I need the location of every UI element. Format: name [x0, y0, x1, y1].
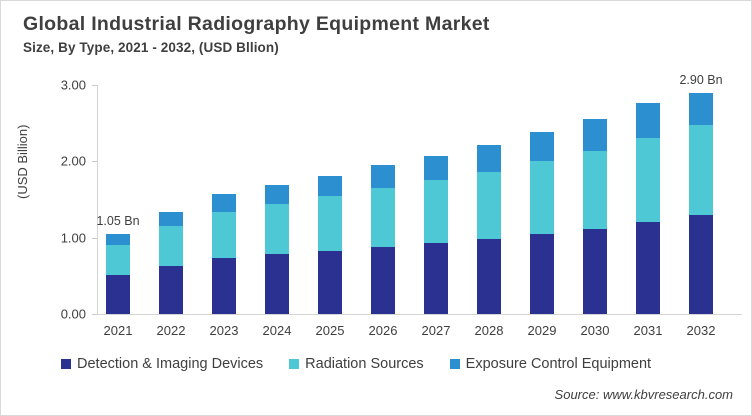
bar-group[interactable]: 2028	[477, 145, 501, 314]
bar-segment[interactable]	[583, 229, 607, 314]
legend-item-label: Radiation Sources	[305, 356, 424, 372]
x-axis-tick-label: 2028	[475, 323, 504, 338]
x-axis-tick-label: 2022	[157, 323, 186, 338]
bar-segment[interactable]	[371, 188, 395, 247]
bar-segment[interactable]	[636, 103, 660, 137]
chart-title: Global Industrial Radiography Equipment …	[23, 13, 490, 36]
bar-segment[interactable]	[477, 239, 501, 314]
chart-subtitle: Size, By Type, 2021 - 2032, (USD Bllion)	[23, 40, 279, 55]
bar-segment[interactable]	[424, 243, 448, 314]
bar-group[interactable]: 2.90 Bn2032	[689, 93, 713, 314]
bar-segment[interactable]	[689, 215, 713, 314]
y-axis-tick-label: 3.00	[61, 78, 86, 93]
bar-group[interactable]: 2029	[530, 132, 554, 314]
bar-segment[interactable]	[530, 234, 554, 314]
bar-segment[interactable]	[477, 172, 501, 239]
x-axis-tick-label: 2026	[369, 323, 398, 338]
bar-segment[interactable]	[106, 245, 130, 275]
bar-segment[interactable]	[530, 132, 554, 161]
x-axis-tick-label: 2032	[687, 323, 716, 338]
legend-item[interactable]: Detection & Imaging Devices	[61, 356, 263, 372]
bar-segment[interactable]	[212, 212, 236, 259]
x-axis-tick-label: 2031	[634, 323, 663, 338]
x-axis-tick-label: 2027	[422, 323, 451, 338]
bar-segment[interactable]	[318, 251, 342, 314]
bar-segment[interactable]	[689, 93, 713, 125]
bar-segment[interactable]	[689, 125, 713, 215]
legend-item[interactable]: Radiation Sources	[289, 356, 424, 372]
x-axis-tick-label: 2023	[210, 323, 239, 338]
bar-segment[interactable]	[265, 204, 289, 254]
bar-segment[interactable]	[636, 222, 660, 314]
bar-segment[interactable]	[371, 247, 395, 314]
bar-group[interactable]: 2027	[424, 156, 448, 314]
bar-segment[interactable]	[318, 196, 342, 250]
bar-segment[interactable]	[583, 119, 607, 150]
bar-group[interactable]: 2024	[265, 185, 289, 314]
bar-segment[interactable]	[371, 165, 395, 188]
bar-group[interactable]: 1.05 Bn2021	[106, 234, 130, 314]
x-axis-tick-label: 2030	[581, 323, 610, 338]
plot-area: 0.001.002.003.00 1.05 Bn2021202220232024…	[97, 85, 737, 314]
bar-group[interactable]: 2031	[636, 103, 660, 314]
legend-swatch-icon	[289, 359, 299, 369]
bar-group[interactable]: 2026	[371, 165, 395, 314]
bar-segment[interactable]	[265, 185, 289, 204]
x-axis-tick-label: 2025	[316, 323, 345, 338]
bar-segment[interactable]	[159, 266, 183, 314]
chart-figure: Global Industrial Radiography Equipment …	[0, 0, 752, 416]
y-axis-label: (USD Billion)	[15, 125, 30, 199]
x-axis-line	[97, 314, 742, 315]
y-axis-tick-label: 0.00	[61, 307, 86, 322]
x-axis-tick-label: 2024	[263, 323, 292, 338]
bar-segment[interactable]	[636, 138, 660, 222]
bar-segment[interactable]	[159, 212, 183, 227]
bar-segment[interactable]	[106, 234, 130, 245]
legend-item[interactable]: Exposure Control Equipment	[450, 356, 651, 372]
legend-swatch-icon	[61, 359, 71, 369]
bar-segment[interactable]	[212, 194, 236, 212]
legend-item-label: Detection & Imaging Devices	[77, 356, 263, 372]
y-axis-tick-mark	[92, 314, 97, 315]
source-attribution: Source: www.kbvresearch.com	[555, 387, 733, 402]
bar-group[interactable]: 2030	[583, 119, 607, 314]
y-axis-tick-mark	[92, 85, 97, 86]
bar-segment[interactable]	[212, 258, 236, 314]
bar-value-label: 2.90 Bn	[679, 73, 722, 87]
chart-legend: Detection & Imaging DevicesRadiation Sou…	[61, 356, 651, 372]
bar-group[interactable]: 2025	[318, 176, 342, 314]
bar-segment[interactable]	[318, 176, 342, 197]
bar-segment[interactable]	[530, 161, 554, 234]
bar-segment[interactable]	[477, 145, 501, 172]
y-axis-tick-label: 1.00	[61, 230, 86, 245]
bar-segment[interactable]	[159, 226, 183, 266]
legend-item-label: Exposure Control Equipment	[466, 356, 651, 372]
y-axis-tick-mark	[92, 161, 97, 162]
bar-segment[interactable]	[424, 156, 448, 180]
legend-swatch-icon	[450, 359, 460, 369]
bar-segment[interactable]	[583, 151, 607, 229]
x-axis-tick-label: 2029	[528, 323, 557, 338]
bar-group[interactable]: 2023	[212, 194, 236, 314]
bar-segment[interactable]	[265, 254, 289, 314]
bar-segment[interactable]	[424, 180, 448, 243]
y-axis-tick-label: 2.00	[61, 154, 86, 169]
bar-value-label: 1.05 Bn	[96, 214, 139, 228]
x-axis-tick-label: 2021	[104, 323, 133, 338]
bar-group[interactable]: 2022	[159, 212, 183, 314]
bar-segment[interactable]	[106, 275, 130, 314]
y-axis-tick-mark	[92, 238, 97, 239]
